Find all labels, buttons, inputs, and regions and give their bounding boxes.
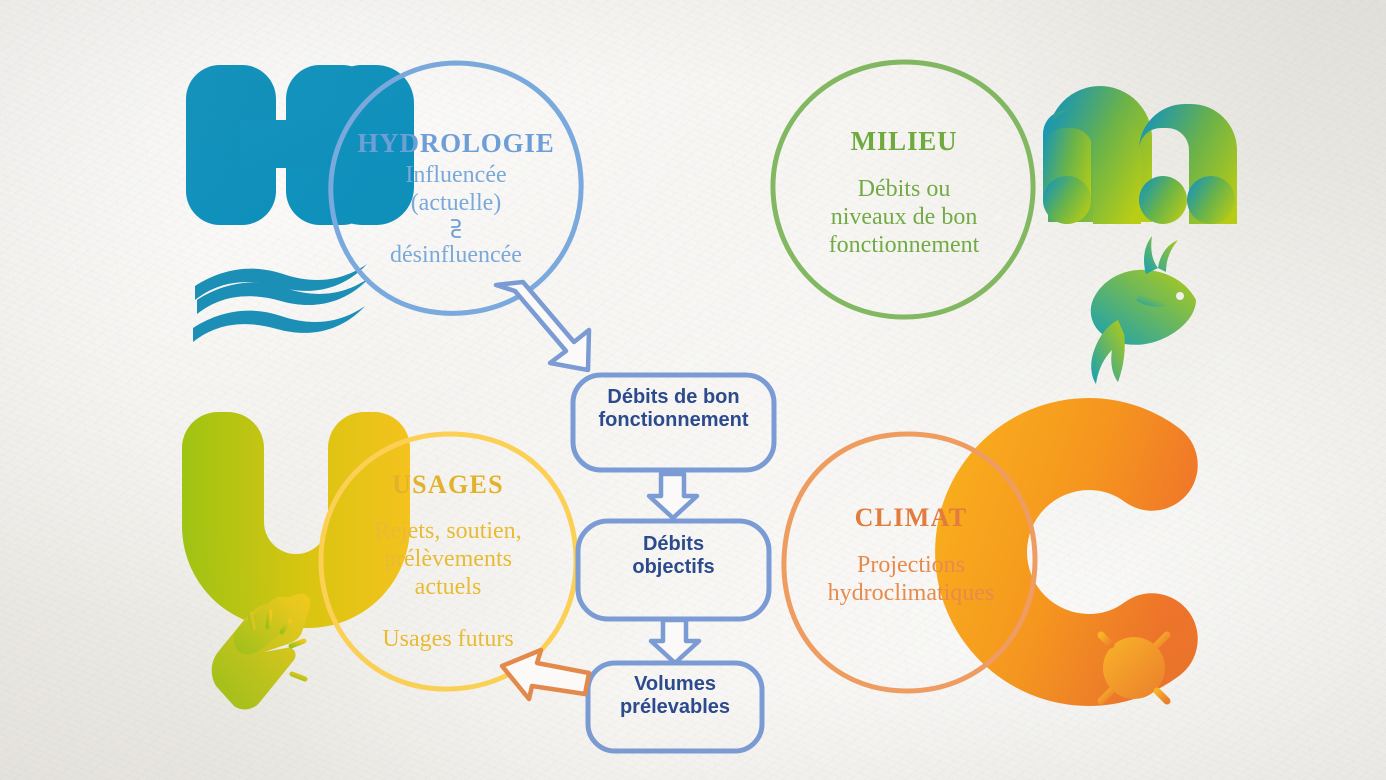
hydrologie-line-1: Influencée <box>331 162 581 190</box>
flow-label-line-2: objectifs <box>578 556 769 579</box>
flow-label-debits-bon-fonctionnement[interactable]: Débits de bon fonctionnement <box>573 386 774 432</box>
hydrologie-text: HYDROLOGIE Influencée (actuelle) ⫔ désin… <box>331 128 581 270</box>
flow-label-debits-objectifs[interactable]: Débits objectifs <box>578 533 769 579</box>
usages-line-2: prélèvements <box>323 546 573 574</box>
milieu-line-1: Débits ou <box>778 176 1030 204</box>
arrow-debits-to-objectifs <box>649 474 697 518</box>
usages-line-1: Rejets, soutien, <box>323 518 573 546</box>
usages-line-4: Usages futurs <box>323 626 573 654</box>
usages-text: USAGES Rejets, soutien, prélèvements act… <box>323 470 573 653</box>
climat-line-1: Projections <box>786 552 1036 580</box>
flow-label-line-2: fonctionnement <box>573 409 774 432</box>
sun-icon <box>1088 622 1180 714</box>
flow-label-volumes-prelevables[interactable]: Volumes prélevables <box>588 673 762 719</box>
milieu-title: MILIEU <box>778 126 1030 157</box>
fish-icon <box>1091 236 1196 384</box>
arrow-objectifs-to-volumes <box>651 620 699 663</box>
chevron-down-icon: ⫔ <box>331 219 581 240</box>
climat-text: CLIMAT Projections hydroclimatiques <box>786 503 1036 608</box>
usages-line-3: actuels <box>323 574 573 602</box>
flow-label-line-2: prélevables <box>588 696 762 719</box>
flow-label-line-1: Débits de bon <box>573 386 774 409</box>
arrow-volumes-to-usages <box>502 650 589 699</box>
climat-line-2: hydroclimatiques <box>786 580 1036 608</box>
clapping-hands-icon <box>212 594 311 710</box>
hydrologie-title: HYDROLOGIE <box>331 128 581 159</box>
letter-m <box>1043 86 1237 224</box>
milieu-text: MILIEU Débits ou niveaux de bon fonction… <box>778 126 1030 260</box>
hydrologie-line-3: désinfluencée <box>331 242 581 270</box>
flow-label-line-1: Débits <box>578 533 769 556</box>
flow-label-line-1: Volumes <box>588 673 762 696</box>
milieu-line-2: niveaux de bon <box>778 204 1030 232</box>
arrow-hydrologie-to-debits <box>496 282 589 370</box>
waves-icon <box>193 264 369 342</box>
infographic-canvas: HYDROLOGIE Influencée (actuelle) ⫔ désin… <box>0 0 1386 780</box>
hydrologie-line-2: (actuelle) <box>331 190 581 218</box>
usages-title: USAGES <box>323 470 573 500</box>
climat-title: CLIMAT <box>786 503 1036 533</box>
milieu-line-3: fonctionnement <box>778 232 1030 260</box>
